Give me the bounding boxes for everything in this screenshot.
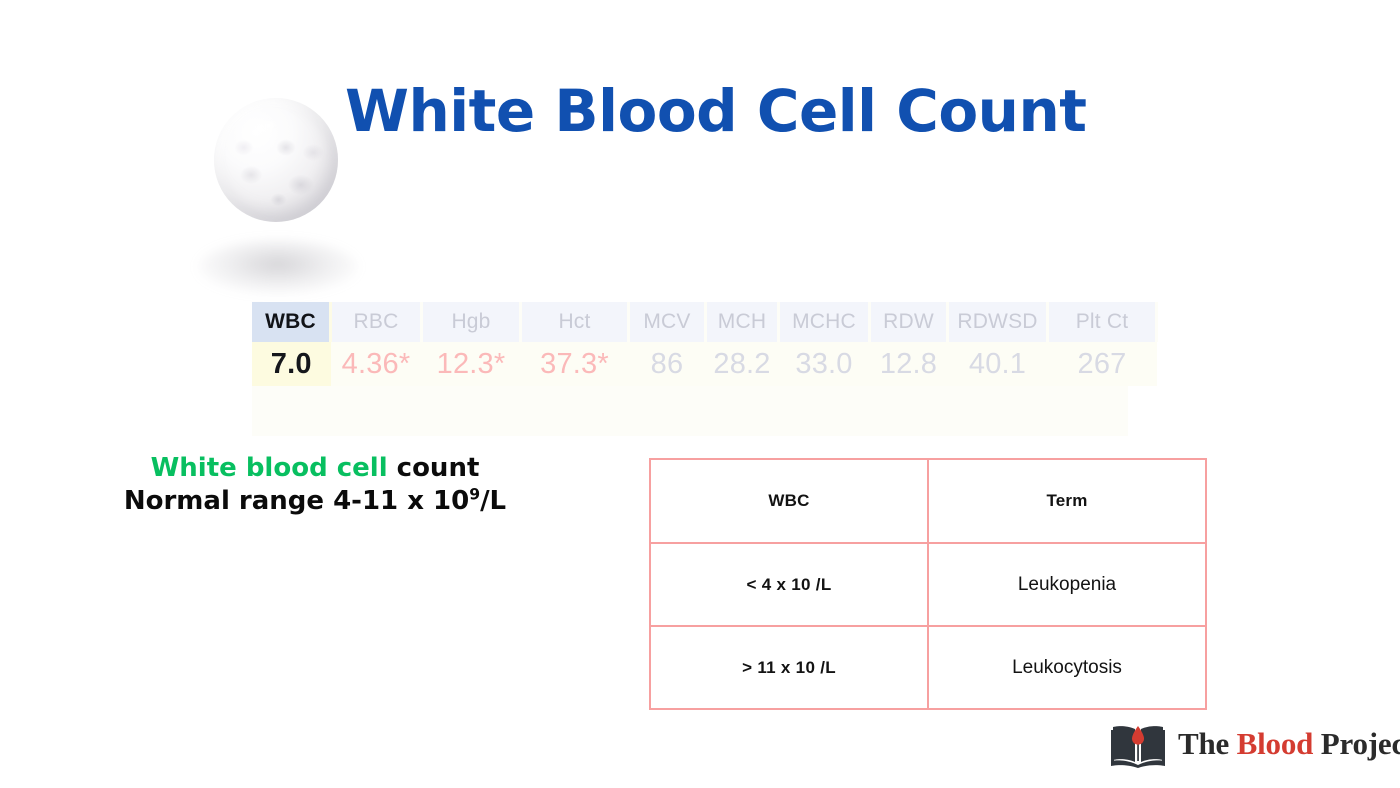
- caption-line-1: White blood cell count: [10, 452, 620, 485]
- wbc-caption-block: White blood cell count Normal range 4-11…: [10, 452, 620, 518]
- cbc-header-mchc: MCHC: [779, 302, 870, 342]
- cbc-value-mch: 28.2: [706, 342, 779, 386]
- cbc-header-rbc: RBC: [331, 302, 422, 342]
- caption-green-text: White blood cell: [151, 453, 388, 483]
- cbc-value-wbc: 7.0: [252, 342, 331, 386]
- term-table-header-row: WBC Term: [650, 459, 1206, 543]
- the-blood-project-logo: The Blood Project: [1110, 718, 1392, 772]
- cbc-header-pltct: Plt Ct: [1048, 302, 1157, 342]
- cbc-table: WBC RBC Hgb Hct MCV MCH MCHC RDW RDWSD P…: [252, 302, 1158, 386]
- logo-text-blood: Blood: [1237, 726, 1314, 761]
- cbc-value-rdwsd: 40.1: [948, 342, 1048, 386]
- logo-wordmark: The Blood Project: [1178, 726, 1400, 762]
- wbc-term-table: WBC Term < 4 x 10 /L Leukopenia > 11 x 1…: [649, 458, 1207, 710]
- cbc-value-hct: 37.3*: [521, 342, 629, 386]
- cbc-header-wbc: WBC: [252, 302, 331, 342]
- cbc-header-rdw: RDW: [870, 302, 948, 342]
- cbc-value-mcv: 86: [629, 342, 706, 386]
- open-book-icon: [1110, 720, 1166, 768]
- term-row-2-term: Leukocytosis: [928, 626, 1206, 709]
- cbc-value-row: 7.0 4.36* 12.3* 37.3* 86 28.2 33.0 12.8 …: [252, 342, 1157, 386]
- logo-text-the: The: [1178, 726, 1237, 761]
- page-title: White Blood Cell Count: [345, 82, 1086, 140]
- cbc-strip-footer-band: [252, 386, 1128, 436]
- term-table-header-term: Term: [928, 459, 1206, 543]
- cbc-value-rdw: 12.8: [870, 342, 948, 386]
- slide-canvas: White Blood Cell Count WBC RBC Hgb Hct M…: [0, 0, 1400, 788]
- cbc-value-rbc: 4.36*: [331, 342, 422, 386]
- cell-drop-shadow: [198, 240, 358, 294]
- cbc-header-mcv: MCV: [629, 302, 706, 342]
- cbc-value-mchc: 33.0: [779, 342, 870, 386]
- caption-black-text: count: [388, 453, 480, 483]
- cbc-value-pltct: 267: [1048, 342, 1157, 386]
- cbc-header-mch: MCH: [706, 302, 779, 342]
- cbc-header-hct: Hct: [521, 302, 629, 342]
- normal-range-exponent: 9: [469, 485, 480, 503]
- cbc-header-row: WBC RBC Hgb Hct MCV MCH MCHC RDW RDWSD P…: [252, 302, 1157, 342]
- term-row-1-term: Leukopenia: [928, 543, 1206, 626]
- cbc-header-hgb: Hgb: [422, 302, 521, 342]
- title-row: White Blood Cell Count: [0, 40, 1400, 150]
- white-blood-cell-sphere: [214, 98, 338, 222]
- cbc-value-hgb: 12.3*: [422, 342, 521, 386]
- term-table-header-wbc: WBC: [650, 459, 928, 543]
- term-row-2-condition: > 11 x 10 /L: [650, 626, 928, 709]
- caption-line-2: Normal range 4-11 x 109/L: [10, 485, 620, 518]
- normal-range-suffix: /L: [480, 486, 506, 516]
- table-row: < 4 x 10 /L Leukopenia: [650, 543, 1206, 626]
- normal-range-prefix: Normal range 4-11 x 10: [124, 486, 469, 516]
- cbc-result-strip: WBC RBC Hgb Hct MCV MCH MCHC RDW RDWSD P…: [252, 302, 1128, 436]
- term-row-1-condition: < 4 x 10 /L: [650, 543, 928, 626]
- table-row: > 11 x 10 /L Leukocytosis: [650, 626, 1206, 709]
- logo-text-project: Project: [1313, 726, 1400, 761]
- wbc-term-table-wrap: WBC Term < 4 x 10 /L Leukopenia > 11 x 1…: [649, 458, 1207, 696]
- cbc-header-rdwsd: RDWSD: [948, 302, 1048, 342]
- white-blood-cell-image: [198, 98, 366, 298]
